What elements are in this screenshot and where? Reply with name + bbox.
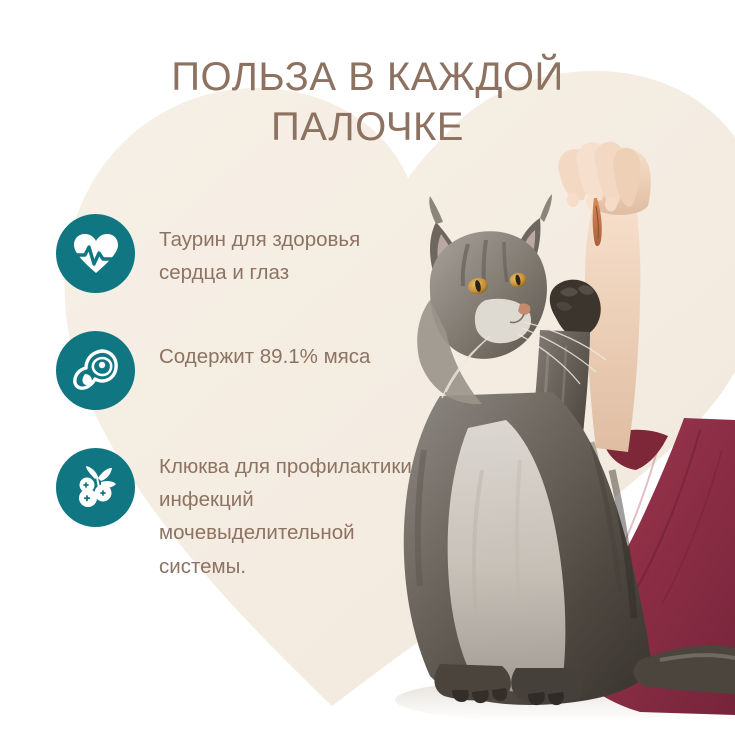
meat-steak-icon-badge: [56, 331, 135, 410]
benefit-text-cranberry: Клюква для профилактики инфекций мочевыд…: [159, 448, 419, 583]
benefit-item-meat: Содержит 89.1% мяса: [56, 331, 436, 410]
heart-pulse-icon: [73, 233, 119, 275]
cranberry-berries-icon-badge: [56, 448, 135, 527]
title-line-1: ПОЛЬЗА В КАЖДОЙ: [95, 52, 640, 102]
cranberry-berries-icon: [73, 465, 119, 511]
title-line-2: ПАЛОЧКЕ: [95, 102, 640, 152]
benefits-list: Таурин для здоровья сердца и глаз Содерж…: [56, 214, 436, 583]
meat-steak-icon: [73, 348, 119, 394]
promo-poster: ПОЛЬЗА В КАЖДОЙ ПАЛОЧКЕ Таурин для здоро…: [0, 0, 735, 755]
benefit-text-taurine: Таурин для здоровья сердца и глаз: [159, 214, 419, 289]
benefit-item-cranberry: Клюква для профилактики инфекций мочевыд…: [56, 448, 436, 583]
poster-title: ПОЛЬЗА В КАЖДОЙ ПАЛОЧКЕ: [95, 52, 640, 152]
heart-pulse-icon-badge: [56, 214, 135, 293]
benefit-text-meat: Содержит 89.1% мяса: [159, 331, 370, 373]
benefit-item-taurine: Таурин для здоровья сердца и глаз: [56, 214, 436, 293]
